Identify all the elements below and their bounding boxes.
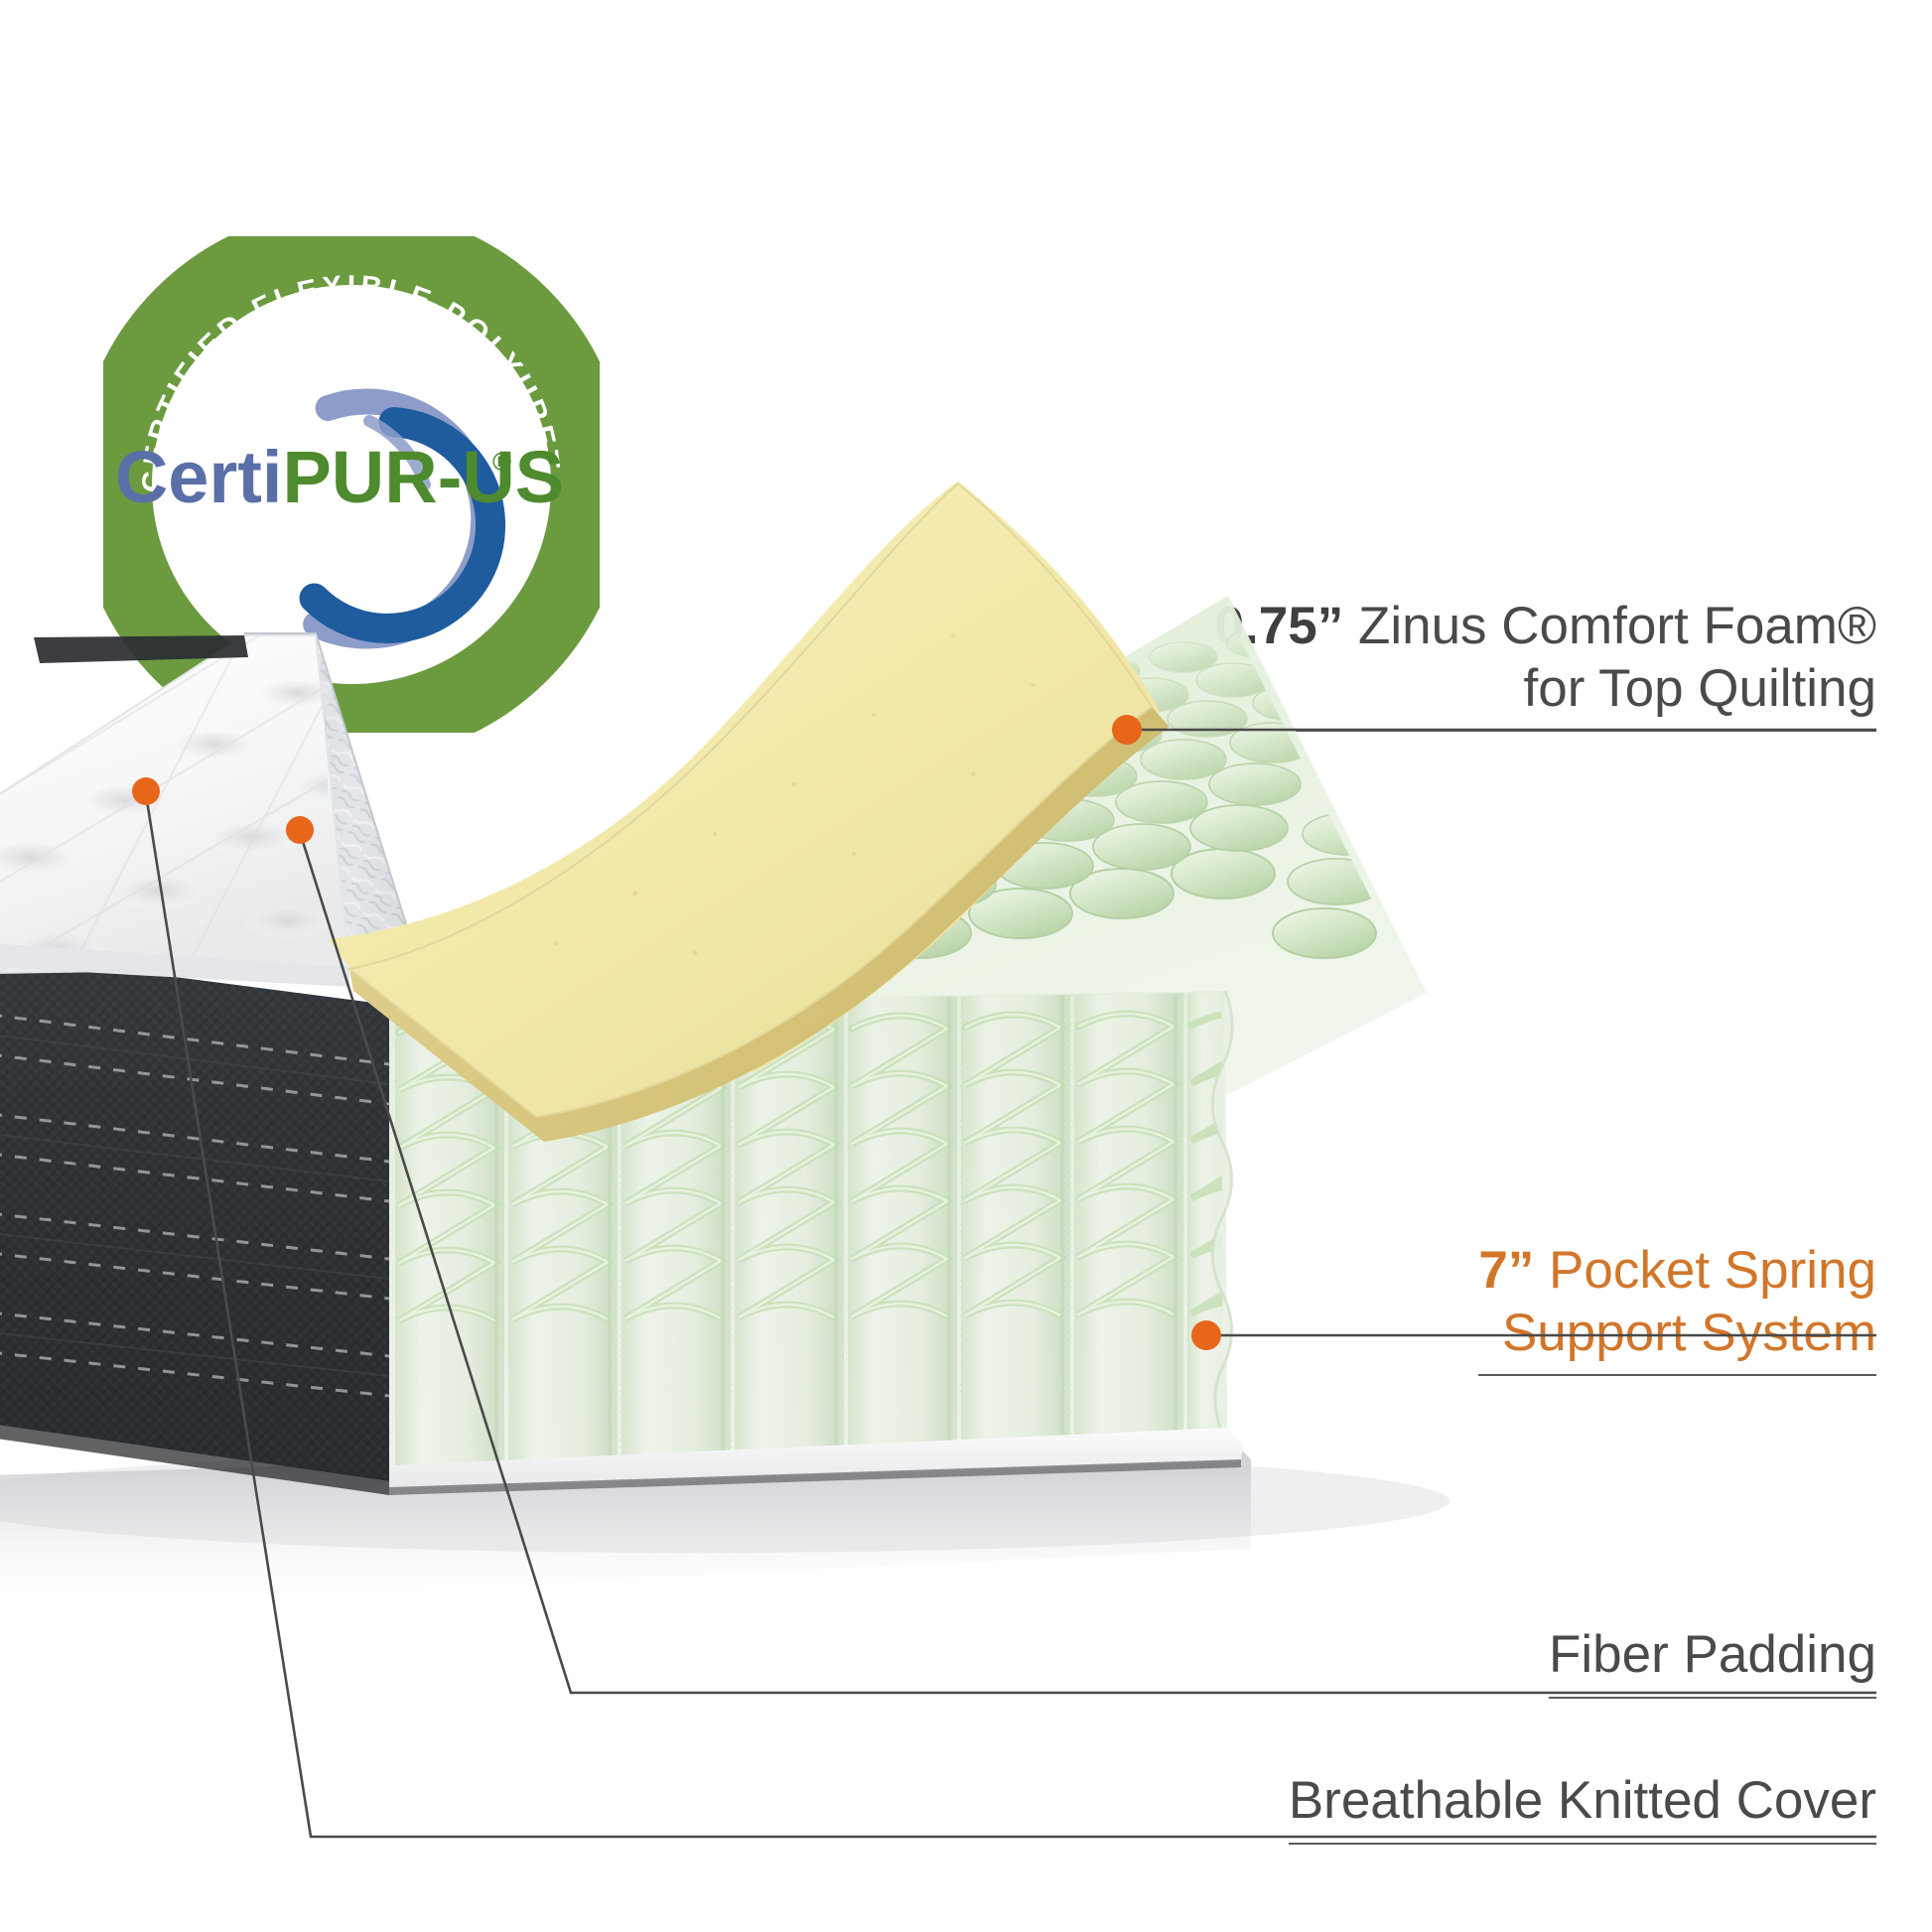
callout-dot-breathable-cover[interactable]: [132, 777, 160, 805]
diagram-canvas: CONTAINS CERTIFIED FLEXIBLE POLYURETHANE…: [0, 0, 1932, 1932]
callout-dot-fiber-padding[interactable]: [286, 816, 314, 844]
mattress-illustration: [0, 0, 1932, 1932]
callout-dot-comfort-foam[interactable]: [1112, 715, 1142, 745]
side-panel-layer: [0, 953, 389, 1495]
callout-dot-pocket-spring[interactable]: [1191, 1320, 1221, 1350]
